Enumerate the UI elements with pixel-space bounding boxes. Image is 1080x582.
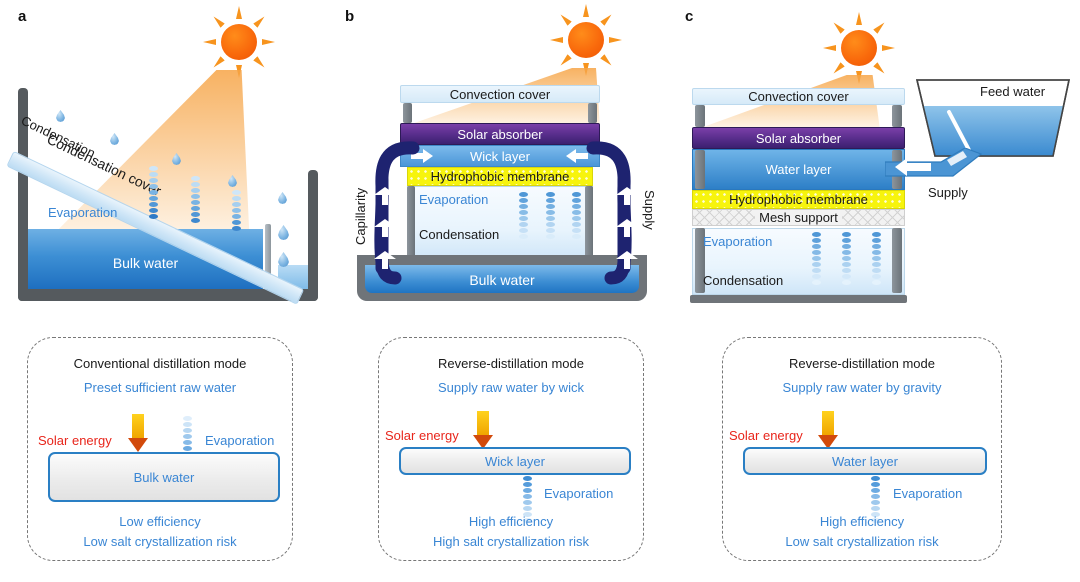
- cover-droplet: [56, 110, 65, 122]
- vapor-plume: [842, 232, 851, 286]
- supply-label: Supply: [642, 190, 657, 230]
- wick-tube-left: [355, 140, 445, 285]
- supply-label: Supply: [928, 185, 968, 200]
- convection-cover-label: Convection cover: [748, 89, 848, 104]
- chamber-base: [690, 295, 907, 303]
- mode-title: Reverse-distillation mode: [379, 356, 643, 371]
- supply-text: Preset sufficient raw water: [28, 380, 292, 395]
- summary-slab-label: Wick layer: [485, 454, 545, 469]
- summary-box-a: Conventional distillation mode Preset su…: [27, 337, 293, 561]
- capillarity-label: Capillarity: [353, 188, 368, 245]
- mesh-support: Mesh support: [692, 209, 905, 226]
- panel-b: b Convection cover Solar absorber Wick l…: [345, 0, 690, 330]
- vapor-plume: [519, 192, 528, 240]
- evaporation-label: Evaporation: [205, 433, 274, 448]
- solar-energy-label: Solar energy: [385, 428, 459, 443]
- panel-c-label: c: [685, 8, 693, 25]
- solar-energy-label: Solar energy: [38, 433, 112, 448]
- evaporation-label: Evaporation: [703, 234, 772, 249]
- supply-text: Supply raw water by gravity: [723, 380, 1001, 395]
- summary-slab-label: Water layer: [832, 454, 898, 469]
- spacer-post: [892, 105, 902, 127]
- cover-droplet: [278, 192, 287, 204]
- outcome-efficiency: Low efficiency: [28, 514, 292, 529]
- spacer-post: [403, 103, 412, 123]
- evaporation-label: Evaporation: [48, 205, 117, 220]
- solar-energy-arrow: [128, 414, 148, 452]
- cover-droplet: [110, 133, 119, 145]
- outcome-salt-risk: Low salt crystallization risk: [28, 534, 292, 549]
- water-layer-label: Water layer: [766, 162, 832, 177]
- summary-box-b: Reverse-distillation mode Supply raw wat…: [378, 337, 644, 561]
- solar-energy-label: Solar energy: [729, 428, 803, 443]
- mesh-support-label: Mesh support: [755, 210, 842, 225]
- hydrophobic-membrane-label: Hydrophobic membrane: [431, 169, 570, 184]
- bulk-water-label: Bulk water: [28, 255, 263, 271]
- chamber-right-wall: [892, 228, 902, 293]
- panel-c: c Convection cover Solar absorber Water …: [685, 0, 1080, 330]
- outcome-efficiency: High efficiency: [379, 514, 643, 529]
- spacer-post: [695, 105, 705, 127]
- panel-b-label: b: [345, 8, 354, 25]
- convection-cover: Convection cover: [400, 85, 600, 103]
- falling-droplet: [278, 252, 289, 267]
- convection-cover-label: Convection cover: [450, 87, 550, 102]
- summary-slab: Wick layer: [399, 447, 631, 475]
- hydrophobic-membrane: Hydrophobic membrane: [692, 190, 905, 209]
- solar-absorber-label: Solar absorber: [457, 127, 542, 142]
- vapor-plume: [872, 232, 881, 286]
- tank-right-wall: [308, 170, 318, 301]
- hydrophobic-membrane-label: Hydrophobic membrane: [729, 192, 868, 207]
- solar-energy-arrow: [473, 411, 493, 449]
- falling-droplet: [278, 225, 289, 240]
- wick-layer-label: Wick layer: [470, 149, 530, 164]
- vapor-plume: [232, 190, 241, 232]
- feed-water-label: Feed water: [980, 84, 1045, 99]
- panel-a: a Condensation cover Condensation Evapor…: [0, 0, 350, 330]
- outcome-salt-risk: High salt crystallization risk: [379, 534, 643, 549]
- sun-icon: [823, 12, 895, 84]
- vapor-plume: [546, 192, 555, 240]
- mode-title: Conventional distillation mode: [28, 356, 292, 371]
- water-layer-left-wall: [695, 150, 705, 189]
- summary-slab: Water layer: [743, 447, 987, 475]
- solar-absorber: Solar absorber: [692, 127, 905, 149]
- panel-a-label: a: [18, 8, 26, 25]
- solar-absorber-label: Solar absorber: [756, 131, 841, 146]
- vapor-plume: [149, 166, 158, 220]
- sun-icon: [550, 4, 622, 76]
- water-layer: Water layer: [692, 149, 905, 190]
- condensation-label: Condensation: [703, 273, 783, 288]
- evaporation-label: Evaporation: [544, 486, 613, 501]
- convection-cover: Convection cover: [692, 88, 905, 105]
- summary-slab-label: Bulk water: [134, 470, 195, 485]
- sun-icon: [203, 6, 275, 78]
- evaporation-label: Evaporation: [893, 486, 962, 501]
- summary-slab: Bulk water: [48, 452, 280, 502]
- mode-title: Reverse-distillation mode: [723, 356, 1001, 371]
- outcome-efficiency: High efficiency: [723, 514, 1001, 529]
- vapor-plume: [191, 176, 200, 224]
- outcome-salt-risk: Low salt crystallization risk: [723, 534, 1001, 549]
- vapor-plume: [812, 232, 821, 286]
- solar-energy-arrow: [818, 411, 838, 449]
- supply-text: Supply raw water by wick: [379, 380, 643, 395]
- spacer-post: [588, 103, 597, 123]
- summary-box-c: Reverse-distillation mode Supply raw wat…: [722, 337, 1002, 561]
